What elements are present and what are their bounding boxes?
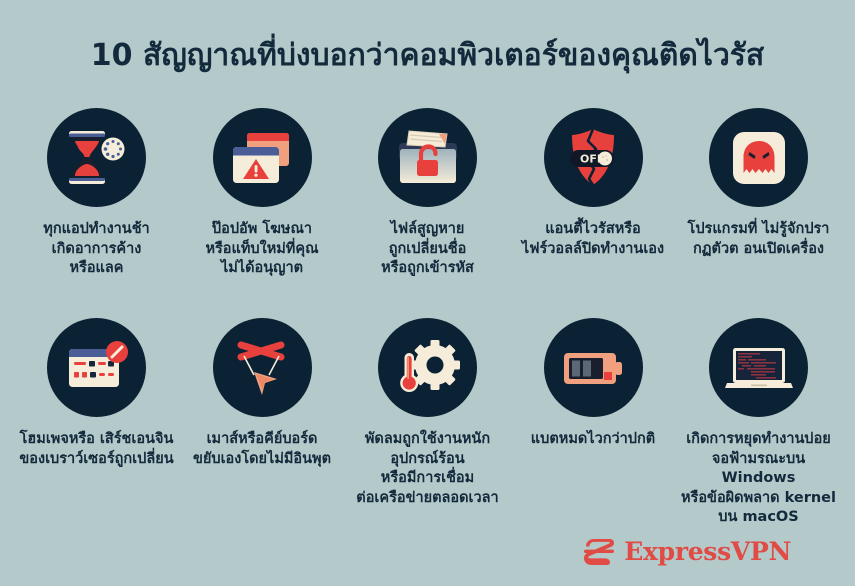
signs-grid: ทุกแอปทำงานช้าเกิดอาการค้างหรือแลค — [14, 108, 841, 528]
sign-item-3: ไฟล์สูญหายถูกเปลี่ยนชื่อหรือถูกเข้ารหัส — [345, 108, 510, 279]
sign-item-6: โฮมเพจหรือ เสิร์ชเอนจินของเบราว์เซอร์ถูก… — [14, 318, 179, 469]
folder-unlocked-files-icon — [391, 121, 465, 195]
sign-caption-8: พัดลมถูกใช้งานหนักอุปกรณ์ร้อนหรือมีการเช… — [342, 430, 514, 508]
sign-caption-4: แอนตี้ไวรัสหรือไฟร์วอลล์ปิดทำงานเอง — [507, 220, 679, 259]
sign-item-7: เมาส์หรือคีย์บอร์ดขยับเองโดยไม่มีอินพุต — [180, 318, 345, 469]
sign-item-9: แบตหมดไวกว่าปกติ — [511, 318, 676, 450]
browser-blocked-icon — [60, 331, 134, 405]
sign-item-5: โปรแกรมที่ ไม่รู้จักปรากฏตัวต อนเปิดเครื… — [676, 108, 841, 259]
gear-thermometer-overheat-icon — [391, 331, 465, 405]
laptop-crash-screen-icon — [721, 330, 797, 406]
sign-icon-circle-6 — [47, 318, 146, 417]
sign-caption-9: แบตหมดไวกว่าปกติ — [507, 430, 679, 450]
expressvpn-logo: ExpressVPN — [583, 536, 791, 566]
sign-caption-3: ไฟล์สูญหายถูกเปลี่ยนชื่อหรือถูกเข้ารหัส — [342, 220, 514, 279]
sign-icon-circle-5 — [709, 108, 808, 207]
sign-item-2: ป๊อปอัพ โฆษณาหรือแท็บใหม่ที่คุณไม่ได้อนุ… — [180, 108, 345, 279]
sign-caption-6: โฮมเพจหรือ เสิร์ชเอนจินของเบราว์เซอร์ถูก… — [11, 430, 183, 469]
sign-icon-circle-9 — [544, 318, 643, 417]
hourglass-spinner-icon — [61, 122, 133, 194]
sign-icon-circle-7 — [213, 318, 312, 417]
sign-item-4: OFF แอนตี้ไวรัสหรือไฟร์วอลล์ปิดทำงานเอง — [511, 108, 676, 259]
sign-icon-circle-10 — [709, 318, 808, 417]
sign-caption-1: ทุกแอปทำงานช้าเกิดอาการค้างหรือแลค — [11, 220, 183, 279]
puppet-strings-cursor-icon — [225, 331, 299, 405]
sign-icon-circle-1 — [47, 108, 146, 207]
sign-caption-5: โปรแกรมที่ ไม่รู้จักปรากฏตัวต อนเปิดเครื… — [673, 220, 845, 259]
broken-shield-off-toggle-icon: OFF — [556, 121, 630, 195]
page-title: 10 สัญญาณที่บ่งบอกว่าคอมพิวเตอร์ของคุณติ… — [0, 36, 855, 76]
sign-icon-circle-3 — [378, 108, 477, 207]
sign-icon-circle-4: OFF — [544, 108, 643, 207]
signs-row-2: โฮมเพจหรือ เสิร์ชเอนจินของเบราว์เซอร์ถูก… — [14, 318, 841, 528]
sign-item-10: เกิดการหยุดทำงานบ่อยจอฟ้ามรณะบน Windowsห… — [676, 318, 841, 528]
expressvpn-logo-mark — [583, 536, 615, 566]
sign-caption-10: เกิดการหยุดทำงานบ่อยจอฟ้ามรณะบน Windowsห… — [673, 430, 845, 528]
sign-caption-2: ป๊อปอัพ โฆษณาหรือแท็บใหม่ที่คุณไม่ได้อนุ… — [176, 220, 348, 279]
signs-row-1: ทุกแอปทำงานช้าเกิดอาการค้างหรือแลค — [14, 108, 841, 318]
expressvpn-logo-text: ExpressVPN — [624, 537, 791, 566]
sign-icon-circle-8 — [378, 318, 477, 417]
ghost-app-icon — [724, 123, 794, 193]
sign-icon-circle-2 — [213, 108, 312, 207]
sign-item-8: พัดลมถูกใช้งานหนักอุปกรณ์ร้อนหรือมีการเช… — [345, 318, 510, 508]
infographic-root: 10 สัญญาณที่บ่งบอกว่าคอมพิวเตอร์ของคุณติ… — [0, 0, 855, 586]
popup-warning-windows-icon — [225, 121, 299, 195]
low-battery-icon — [556, 331, 630, 405]
sign-caption-7: เมาส์หรือคีย์บอร์ดขยับเองโดยไม่มีอินพุต — [176, 430, 348, 469]
sign-item-1: ทุกแอปทำงานช้าเกิดอาการค้างหรือแลค — [14, 108, 179, 279]
